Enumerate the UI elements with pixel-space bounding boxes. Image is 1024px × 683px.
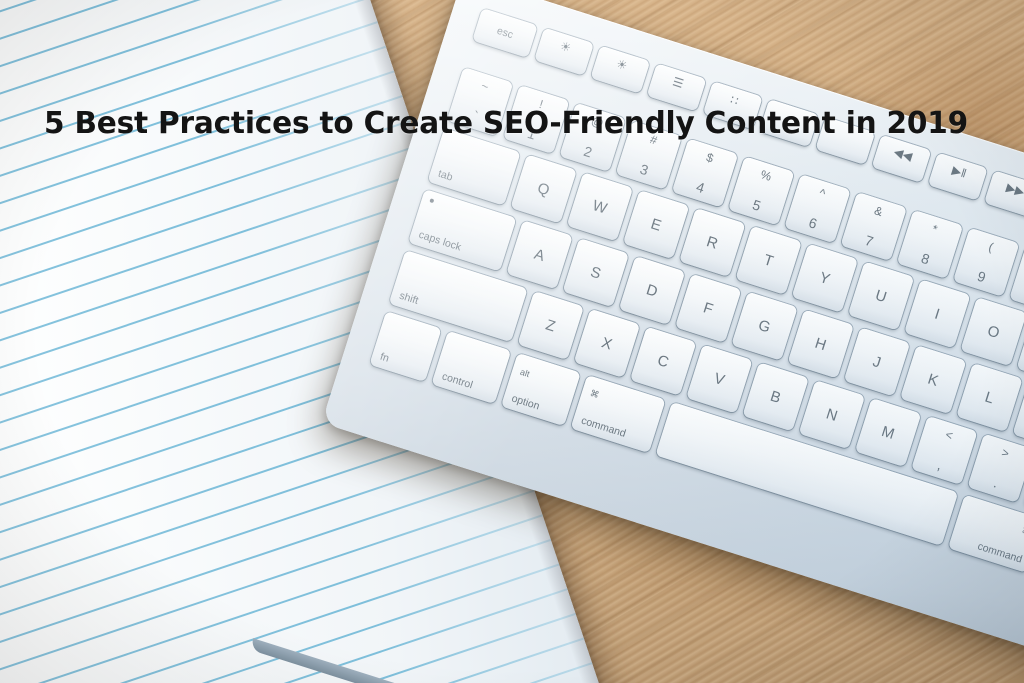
keyboard-bottom-edge — [250, 638, 1024, 683]
photo-canvas: BIC Brite esc☀☀☰∷◀◀▶‖▶▶◂◂)◂))⏏~`!1@2#3$4… — [0, 0, 1024, 683]
page-title: 5 Best Practices to Create SEO-Friendly … — [44, 106, 968, 141]
